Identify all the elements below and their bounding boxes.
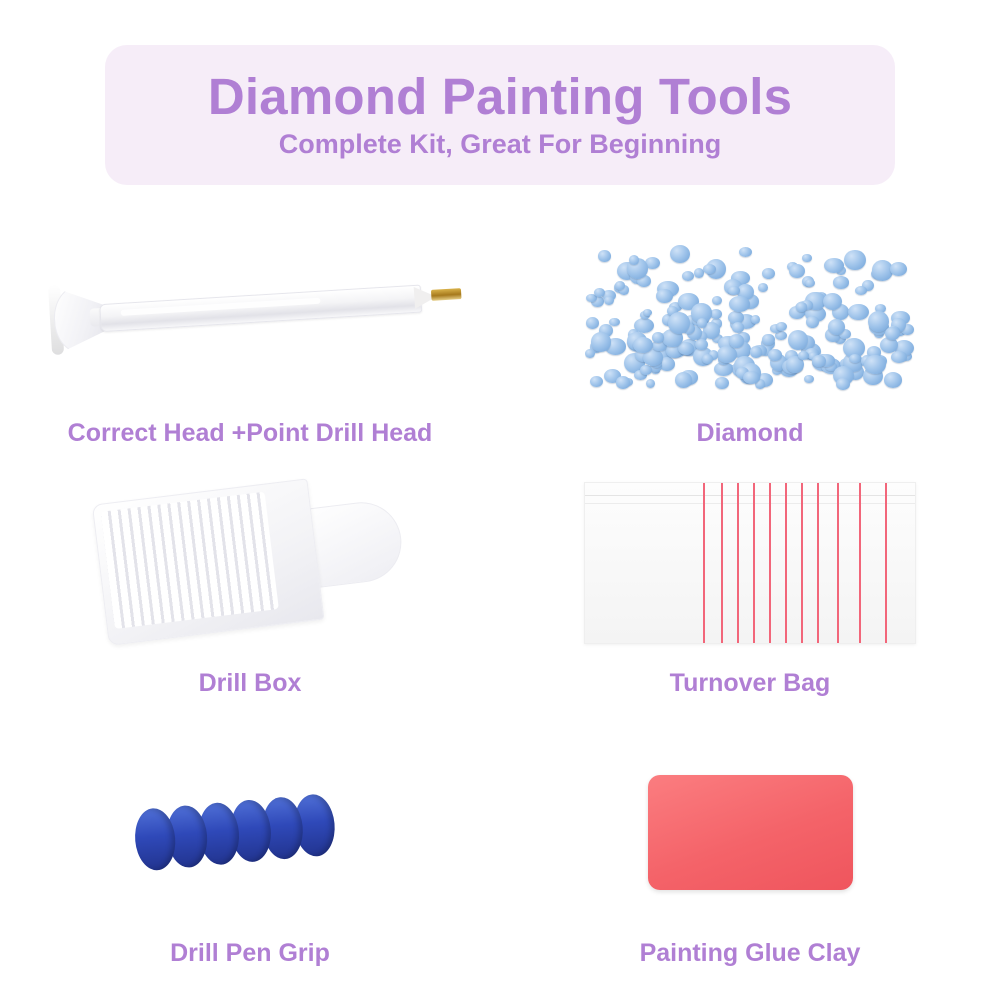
- diamond-drill: [732, 322, 745, 333]
- diamond-drill: [891, 351, 907, 363]
- diamond-drill: [682, 271, 694, 282]
- diamond-drill: [640, 365, 651, 375]
- diamond-drill: [848, 304, 869, 321]
- product-label: Correct Head +Point Drill Head: [68, 419, 433, 448]
- diamond-drill: [652, 332, 664, 343]
- bag-stripe: [817, 483, 819, 643]
- diamond-drill: [804, 375, 814, 383]
- diamond-drill: [717, 346, 736, 363]
- drill-pen-icon: [37, 240, 464, 385]
- bag-stripe: [703, 483, 705, 643]
- drill-tray-icon: [91, 462, 409, 662]
- diamond-drill: [629, 255, 639, 265]
- diamond-drill: [633, 337, 653, 353]
- diamond-drill: [806, 316, 819, 328]
- diamond-drill: [739, 247, 752, 257]
- product-item-correct-head: Correct Head +Point Drill Head: [0, 220, 500, 448]
- diamond-drill: [788, 330, 808, 350]
- diamond-drill: [884, 372, 902, 388]
- pen-grip-image: [30, 740, 470, 925]
- diamond-drill: [844, 250, 865, 270]
- product-label: Drill Pen Grip: [170, 939, 330, 968]
- diamond-drill: [768, 349, 782, 361]
- diamond-drill: [729, 296, 751, 312]
- diamond-drill: [789, 264, 805, 278]
- bag-stripe: [801, 483, 803, 643]
- product-item-glue-clay: Painting Glue Clay: [500, 740, 1000, 968]
- product-item-turnover-bag: Turnover Bag: [500, 470, 1000, 698]
- diamond-drill: [715, 377, 729, 390]
- page-subtitle: Complete Kit, Great For Beginning: [279, 129, 722, 160]
- bag-stripe: [859, 483, 861, 643]
- glue-clay-image: [530, 740, 970, 925]
- turnover-bag-image: [530, 470, 970, 655]
- turnover-bag-icon: [584, 482, 916, 644]
- diamond-drill: [702, 354, 713, 364]
- diamond-drill: [598, 250, 611, 261]
- diamond-drill: [750, 346, 762, 357]
- product-label: Diamond: [697, 419, 804, 448]
- correct-head-image: [30, 220, 470, 405]
- diamond-drills-icon: [585, 233, 915, 393]
- diamond-drill: [890, 262, 908, 276]
- diamond-drill: [586, 317, 599, 329]
- diamond-drill: [805, 279, 815, 287]
- diamond-drill: [864, 355, 885, 375]
- product-infographic: Diamond Painting Tools Complete Kit, Gre…: [0, 0, 1000, 1000]
- product-label: Drill Box: [199, 669, 302, 698]
- diamond-drill: [604, 296, 614, 305]
- bag-stripe: [885, 483, 887, 643]
- diamond-drill: [615, 281, 626, 290]
- diamond-drill: [712, 296, 722, 305]
- bag-stripe: [837, 483, 839, 643]
- product-label: Turnover Bag: [670, 669, 831, 698]
- diamond-drill: [585, 349, 595, 359]
- page-title: Diamond Painting Tools: [208, 70, 792, 124]
- bag-stripe: [785, 483, 787, 643]
- diamond-drill: [728, 286, 740, 295]
- diamond-drill: [758, 283, 768, 292]
- bag-stripe: [769, 483, 771, 643]
- diamond-drill: [885, 327, 900, 341]
- product-item-diamond: Diamond: [500, 220, 1000, 448]
- diamond-drill: [594, 288, 604, 297]
- header-banner: Diamond Painting Tools Complete Kit, Gre…: [105, 45, 895, 185]
- bag-stripe: [721, 483, 723, 643]
- diamond-drill: [762, 268, 775, 279]
- diamond-drill: [616, 376, 630, 388]
- diamond-drill: [828, 319, 845, 334]
- product-grid: Correct Head +Point Drill Head Diamond D…: [0, 200, 1000, 990]
- diamond-drill: [836, 378, 850, 390]
- diamond-drill: [796, 302, 808, 312]
- diamond-image: [530, 220, 970, 405]
- bag-stripe: [737, 483, 739, 643]
- diamond-drill: [591, 332, 612, 352]
- diamond-drill: [802, 254, 811, 262]
- product-item-pen-grip: Drill Pen Grip: [0, 740, 500, 968]
- product-item-drill-box: Drill Box: [0, 470, 500, 698]
- pen-grips-icon: [132, 778, 369, 888]
- diamond-drill: [833, 276, 849, 288]
- diamond-drill: [776, 322, 787, 332]
- glue-clay-icon: [648, 775, 853, 890]
- bag-stripe: [753, 483, 755, 643]
- diamond-drill: [675, 372, 693, 388]
- diamond-drill: [646, 379, 655, 388]
- diamond-drill: [855, 286, 867, 295]
- diamond-drill: [762, 334, 775, 346]
- drill-box-image: [30, 470, 470, 655]
- diamond-drill: [751, 315, 760, 324]
- diamond-drill: [643, 309, 652, 316]
- diamond-drill: [697, 318, 707, 328]
- diamond-drill: [656, 289, 673, 304]
- diamond-drill: [743, 371, 760, 384]
- diamond-drill: [703, 264, 716, 274]
- product-label: Painting Glue Clay: [640, 939, 861, 968]
- diamond-drill: [670, 245, 690, 263]
- diamond-drill: [590, 376, 603, 387]
